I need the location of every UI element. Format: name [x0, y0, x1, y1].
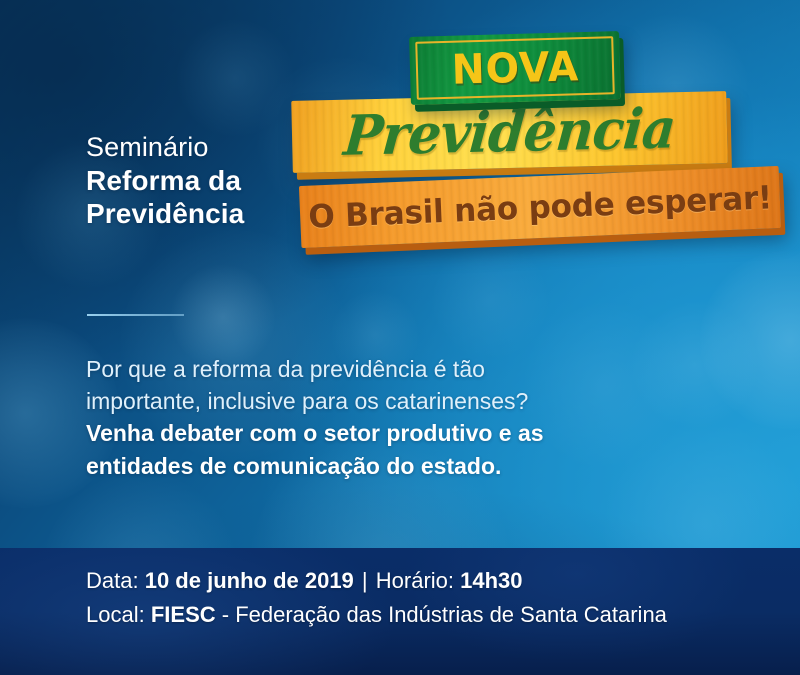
date-value: 10 de junho de 2019: [145, 568, 354, 593]
event-poster: Previdência NOVA O Brasil não pode esper…: [0, 0, 800, 675]
divider: [87, 314, 184, 316]
place-label: Local:: [86, 602, 145, 627]
event-location-line: Local: FIESC - Federação das Indústrias …: [86, 598, 667, 632]
logo-plank-nova: NOVA: [409, 31, 621, 105]
page-title: Seminário Reforma da Previdência: [86, 132, 244, 230]
logo-plank-nova-text: NOVA: [451, 42, 580, 94]
title-kicker: Seminário: [86, 132, 244, 164]
event-details-text: Data: 10 de junho de 2019 | Horário: 14h…: [86, 564, 667, 632]
time-label: Horário:: [376, 568, 454, 593]
logo-plank-slogan: O Brasil não pode esperar!: [299, 166, 781, 248]
place-rest: - Federação das Indústrias de Santa Cata…: [222, 602, 667, 627]
place-value: FIESC: [151, 602, 216, 627]
nova-previdencia-logo: Previdência NOVA O Brasil não pode esper…: [290, 18, 790, 273]
body-callout-line-2: entidades de comunicação do estado.: [86, 450, 646, 482]
title-line-2: Previdência: [86, 197, 244, 230]
body-question-line-1: Por que a reforma da previdência é tão: [86, 353, 646, 385]
event-details-bar: Data: 10 de junho de 2019 | Horário: 14h…: [0, 548, 800, 675]
logo-plank-previdencia: Previdência: [291, 91, 728, 173]
logo-plank-previdencia-text: Previdência: [341, 96, 677, 168]
date-label: Data:: [86, 568, 139, 593]
body-question-line-2: importante, inclusive para os catarinens…: [86, 385, 646, 417]
event-date-time-line: Data: 10 de junho de 2019 | Horário: 14h…: [86, 564, 667, 598]
detail-separator: |: [360, 568, 370, 593]
time-value: 14h30: [460, 568, 522, 593]
title-line-1: Reforma da: [86, 164, 244, 197]
body-copy: Por que a reforma da previdência é tão i…: [86, 353, 646, 482]
body-callout-line-1: Venha debater com o setor produtivo e as: [86, 417, 646, 449]
